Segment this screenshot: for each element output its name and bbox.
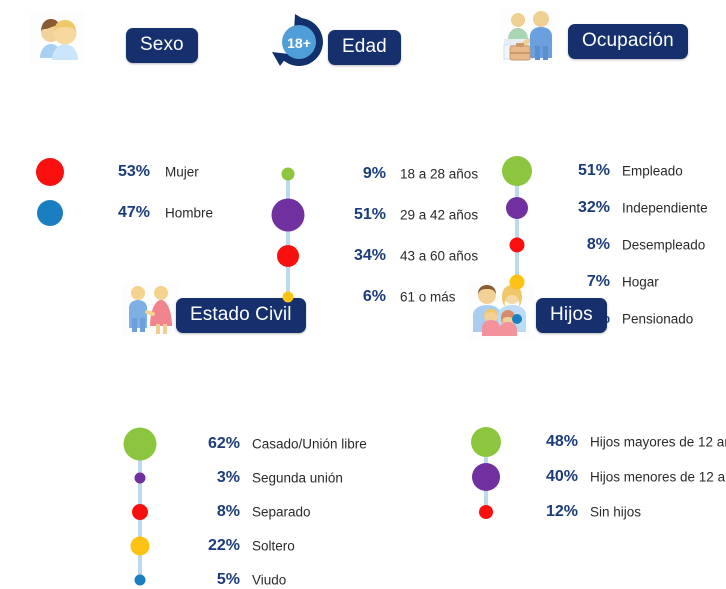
infographic-canvas: Sexo53%Mujer47%Hombre 18+ Edad9%18 a 28 … <box>0 0 726 541</box>
group-title-badge-ocupacion[interactable]: Ocupación <box>568 24 688 59</box>
stat-dot <box>471 427 501 457</box>
office-worker-icon <box>500 8 560 69</box>
couple-holding-hands-icon <box>122 282 178 341</box>
stat-label: 43 a 60 años <box>400 249 478 264</box>
stat-label: Segunda unión <box>252 471 343 486</box>
family-icon <box>468 282 534 345</box>
svg-text:18+: 18+ <box>287 35 311 51</box>
stat-label: Hogar <box>622 275 659 290</box>
stat-dot <box>135 575 146 586</box>
stat-dot <box>282 168 295 181</box>
stat-label: Casado/Unión libre <box>252 437 367 452</box>
stat-label: Empleado <box>622 164 683 179</box>
stat-dot <box>506 197 528 219</box>
stat-dot <box>36 158 64 186</box>
stat-label: 29 a 42 años <box>400 208 478 223</box>
group-title-badge-edad[interactable]: Edad <box>328 30 401 65</box>
stat-dot <box>502 156 532 186</box>
group-title-badge-sexo[interactable]: Sexo <box>126 28 198 63</box>
stat-dot <box>479 505 493 519</box>
stat-label: Hijos mayores de 12 años <box>590 435 726 450</box>
stat-label: 18 a 28 años <box>400 167 478 182</box>
stat-label: Separado <box>252 505 311 520</box>
stat-dot <box>131 537 150 556</box>
stat-label: Sin hijos <box>590 505 641 520</box>
top-strip-text <box>0 0 726 7</box>
stat-label: Independiente <box>622 201 708 216</box>
two-people-icon <box>30 12 84 69</box>
stat-label: Hijos menores de 12 años <box>590 470 726 485</box>
stat-dot <box>272 199 305 232</box>
couple-holding-hands-icon <box>122 282 178 336</box>
stat-dot <box>510 238 525 253</box>
stat-label: Mujer <box>165 165 199 180</box>
stat-label: Viudo <box>252 573 286 588</box>
stat-dot <box>277 245 299 267</box>
stat-dot <box>283 292 294 303</box>
stat-label: 61 o más <box>400 290 456 305</box>
stat-dot <box>37 200 63 226</box>
age-18-plus-icon: 18+ <box>268 14 330 75</box>
stat-dot <box>135 473 146 484</box>
group-title-badge-hijos[interactable]: Hijos <box>536 298 607 333</box>
stat-label: Hombre <box>165 206 213 221</box>
stat-dot <box>472 463 500 491</box>
office-worker-icon <box>500 8 560 64</box>
stat-label: Pensionado <box>622 312 693 327</box>
stat-dot <box>510 275 525 290</box>
group-title-badge-estado-civil[interactable]: Estado Civil <box>176 298 306 333</box>
stat-label: Desempleado <box>622 238 705 253</box>
stat-dot <box>132 504 148 520</box>
age-18-plus-icon: 18+ <box>268 14 330 70</box>
two-people-icon <box>30 12 84 64</box>
stat-dot <box>512 314 522 324</box>
family-icon <box>468 282 534 340</box>
timeline-spine <box>286 174 290 297</box>
stat-dot <box>124 428 157 461</box>
